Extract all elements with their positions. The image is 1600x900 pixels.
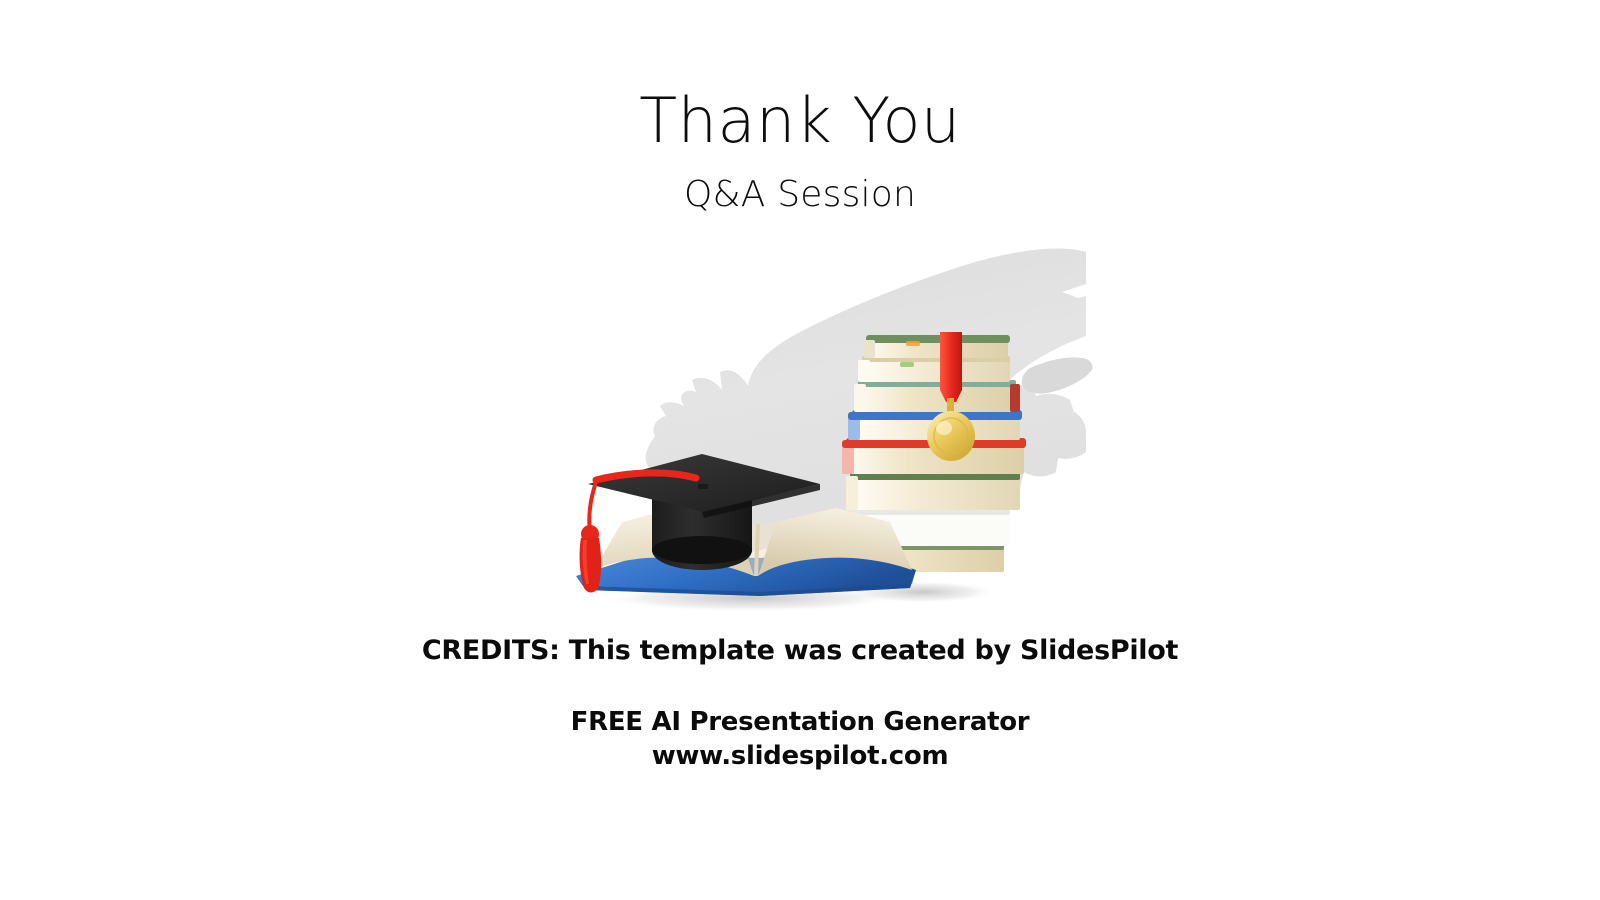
page-title: Thank You [0,88,1600,153]
slide-canvas: Thank You Q&A Session [0,0,1600,900]
graduation-artwork [470,240,1110,630]
credits-block: CREDITS: This template was created by Sl… [0,634,1600,773]
cap-button [698,484,708,489]
credits-product-name: FREE AI Presentation Generator [0,706,1600,740]
tassel-cord-2 [589,482,596,532]
credits-website[interactable]: www.slidespilot.com [0,740,1600,774]
medal-ribbon [940,332,962,402]
credits-spacer [0,668,1600,706]
book-spine-2 [858,356,1010,382]
page-subtitle: Q&A Session [0,175,1600,215]
credits-attribution: CREDITS: This template was created by Sl… [0,634,1600,668]
book-spine-3 [854,380,1020,412]
book-spine-1 [864,335,1010,358]
heading-block: Thank You Q&A Session [0,88,1600,215]
book-spine-6 [846,472,1020,510]
